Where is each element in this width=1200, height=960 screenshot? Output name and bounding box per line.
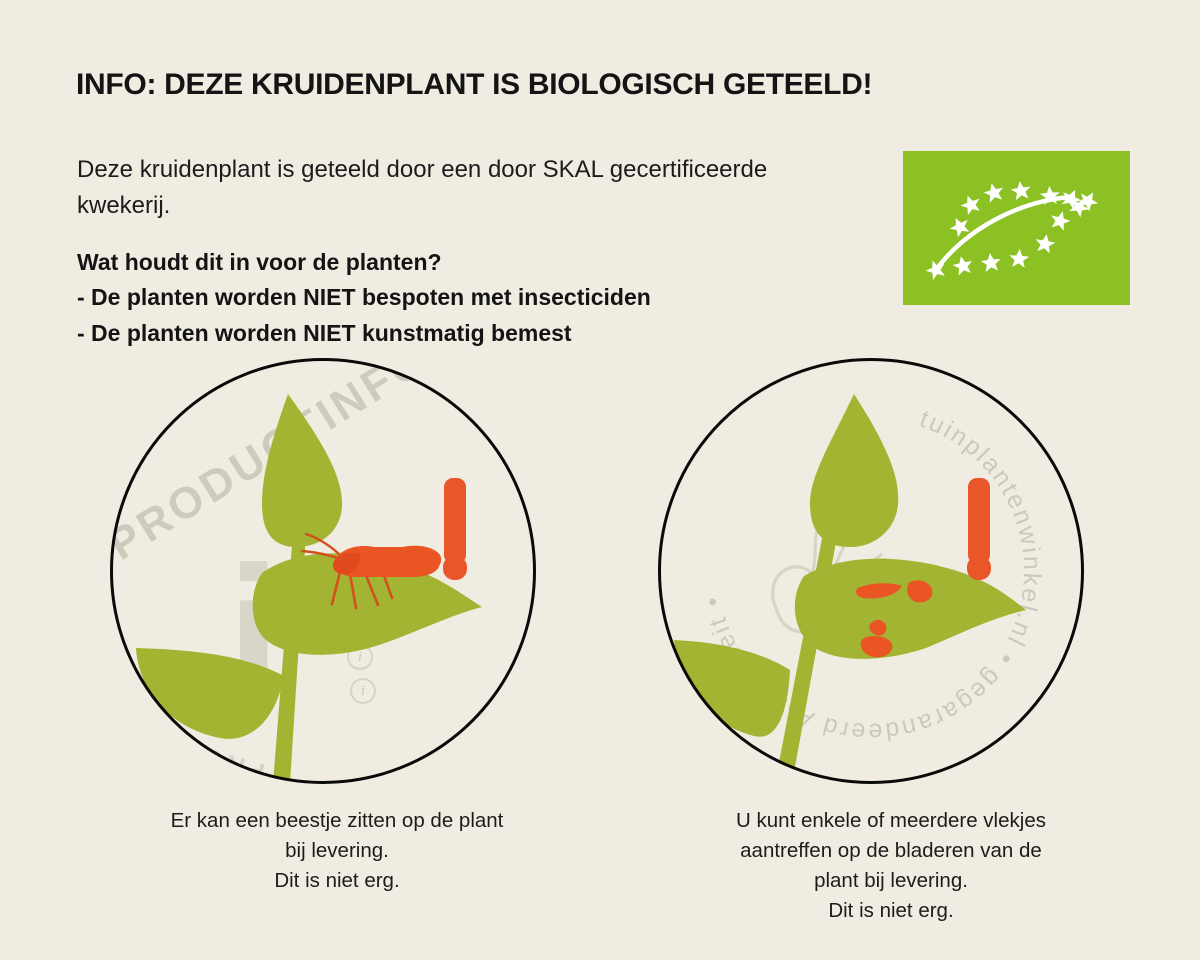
caption-line: aantreffen op de bladeren van de [676,836,1106,866]
eu-organic-leaf-logo [903,151,1130,305]
caption-line: Er kan een beestje zitten op de plant [122,806,552,836]
eu-organic-logo-svg [903,151,1130,305]
circle-outline-right [658,358,1084,784]
caption-line: plant bij levering. [676,866,1106,896]
panel-insect: i PRODUCTINFO PRODUCTINFO i i i i i i [110,358,540,896]
caption-line: Dit is niet erg. [676,896,1106,926]
intro-bullet-1: - De planten worden NIET bespoten met in… [77,279,877,315]
caption-line: U kunt enkele of meerdere vlekjes [676,806,1106,836]
circle-outline-left [110,358,536,784]
panel-caption-left: Er kan een beestje zitten op de plant bi… [122,806,552,896]
intro-bullet-2: - De planten worden NIET kunstmatig beme… [77,315,877,351]
intro-text-block: Deze kruidenplant is geteeld door een do… [77,152,877,351]
illustration-circle-left: i PRODUCTINFO PRODUCTINFO i i i i i i [110,358,536,784]
page-title: INFO: DEZE KRUIDENPLANT IS BIOLOGISCH GE… [76,68,976,102]
panel-spots: tuinplantenwinkel.nl • gegarandeerd A-kw… [658,358,1088,926]
caption-line: bij levering. [122,836,552,866]
caption-line: Dit is niet erg. [122,866,552,896]
intro-paragraph: Deze kruidenplant is geteeld door een do… [77,152,867,224]
panel-caption-right: U kunt enkele of meerdere vlekjes aantre… [676,806,1106,926]
intro-question: Wat houdt dit in voor de planten? [77,246,877,279]
illustration-circle-right: tuinplantenwinkel.nl • gegarandeerd A-kw… [658,358,1084,784]
